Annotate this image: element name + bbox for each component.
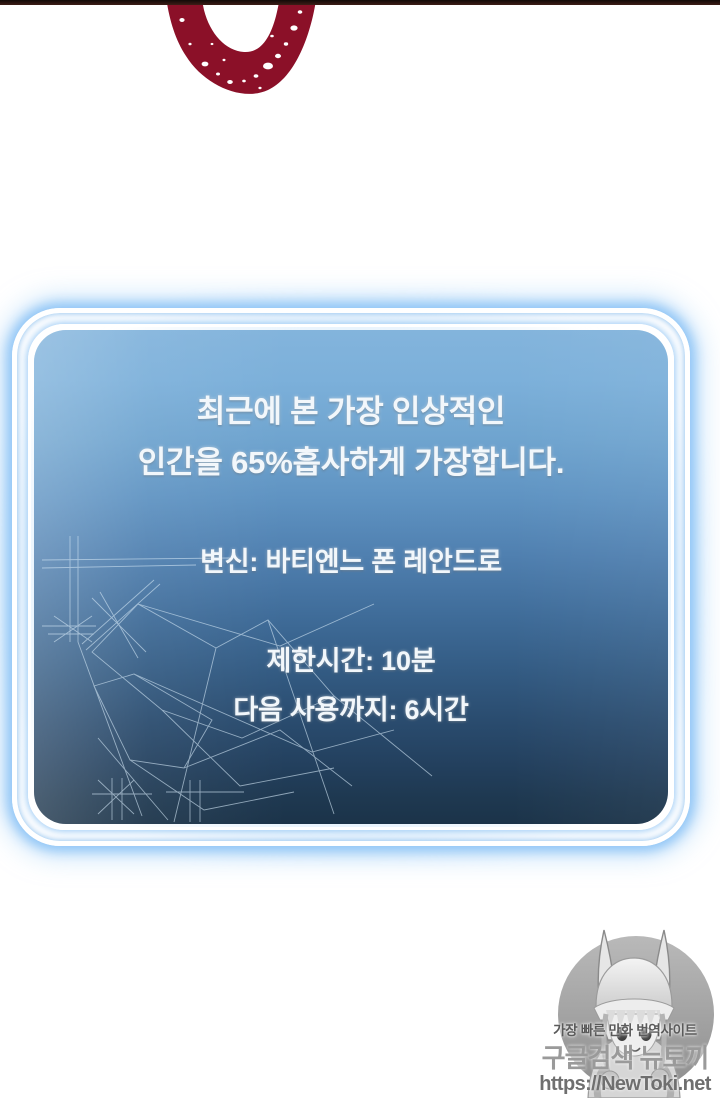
page-top-border-strip (0, 0, 720, 5)
watermark-url[interactable]: https://NewToki.net (539, 1073, 711, 1096)
webtoon-page: { "page": { "background_color": "#ffffff… (0, 0, 720, 1098)
newtoki-watermark: 가장 빠른 만화 번역사이트 구글검색 뉴토끼 https://NewToki.… (532, 910, 720, 1098)
skill-info-panel: 최근에 본 가장 인상적인 인간을 65%흡사하게 가장합니다. 변신: 바티엔… (0, 294, 704, 860)
watermark-tagline: 가장 빠른 만화 번역사이트 (553, 1019, 697, 1039)
panel-light-sheen (34, 330, 668, 824)
panel-background (34, 330, 668, 824)
red-brush-stroke (160, 0, 326, 100)
panel-wireframe-decoration (34, 524, 454, 824)
watermark-brand: 구글검색 뉴토끼 (542, 1038, 709, 1075)
watermark-text-block: 가장 빠른 만화 번역사이트 구글검색 뉴토끼 https://NewToki.… (532, 1019, 718, 1096)
